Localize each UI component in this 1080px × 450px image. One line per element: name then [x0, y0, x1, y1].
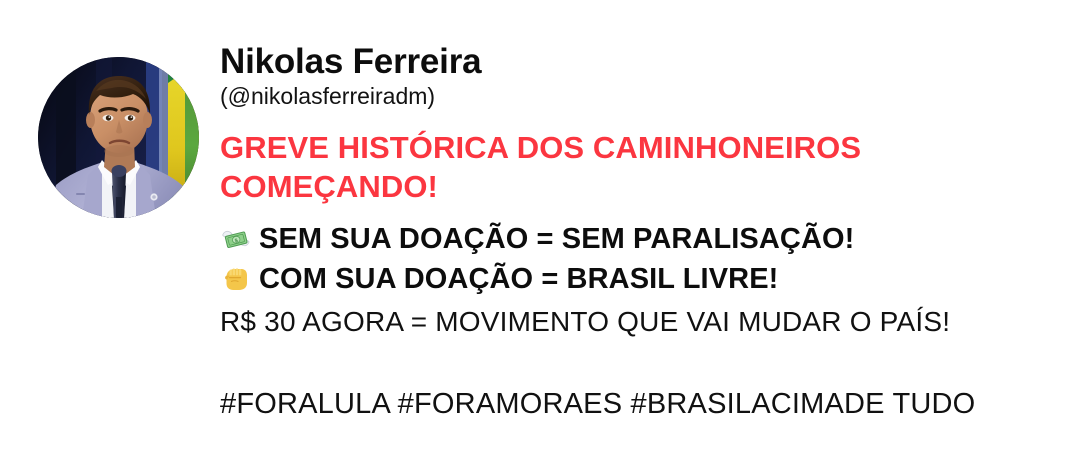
- benefit-line-com: COM SUA DOAÇÃO = BRASIL LIVRE!: [220, 260, 1060, 298]
- benefit-line-com-text: COM SUA DOAÇÃO = BRASIL LIVRE!: [259, 260, 778, 298]
- hashtag-line: #FORALULA #FORAMORAES #BRASILACIMADE TUD…: [220, 386, 1060, 424]
- money-with-wings-emoji: $: [220, 223, 252, 255]
- post-headline: GREVE HISTÓRICA DOS CAMINHONEIROS COMEÇA…: [220, 129, 920, 206]
- social-post-card: Nikolas Ferreira (@nikolasferreiradm) GR…: [0, 0, 1080, 450]
- avatar[interactable]: [38, 57, 199, 218]
- raised-fist-emoji: [220, 263, 252, 295]
- benefit-line-sem: $ SEM SUA DOAÇÃO = SEM PARALISAÇÃO!: [220, 220, 1060, 258]
- post-content: Nikolas Ferreira (@nikolasferreiradm) GR…: [220, 42, 1060, 424]
- benefit-line-sem-text: SEM SUA DOAÇÃO = SEM PARALISAÇÃO!: [259, 220, 854, 258]
- avatar-photo: [38, 57, 199, 218]
- author-handle: (@nikolasferreiradm): [220, 82, 1060, 112]
- author-display-name: Nikolas Ferreira: [220, 42, 1060, 81]
- call-to-action-text: R$ 30 AGORA = MOVIMENTO QUE VAI MUDAR O …: [220, 304, 1060, 340]
